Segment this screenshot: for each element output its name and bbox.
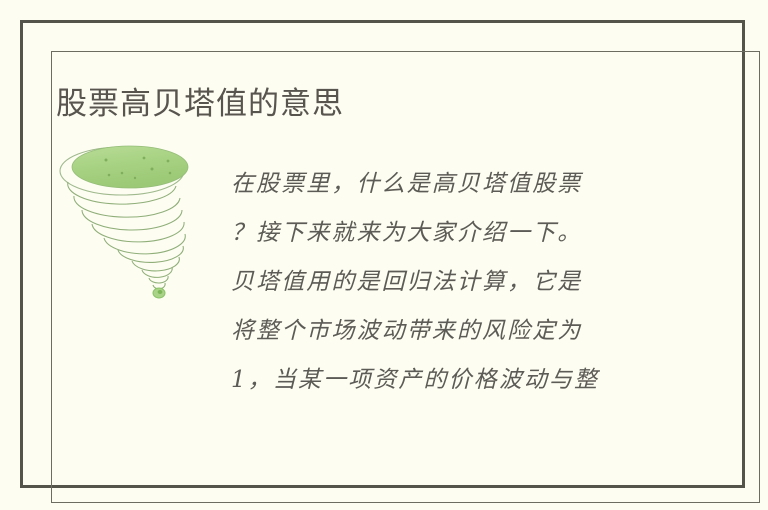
- body-line: ？接下来就来为大家介绍一下。: [231, 209, 671, 258]
- body-line: 1，当某一项资产的价格波动与整: [231, 356, 671, 405]
- tornado-funnel-rings: [68, 182, 186, 289]
- page-title: 股票高贝塔值的意思: [56, 84, 344, 124]
- article-card: 股票高贝塔值的意思: [0, 0, 768, 510]
- body-line: 将整个市场波动带来的风险定为: [231, 307, 671, 356]
- body-line: 在股票里，什么是高贝塔值股票: [231, 160, 671, 209]
- tornado-illustration: [52, 140, 202, 305]
- tornado-tip-dot-core: [158, 290, 163, 294]
- body-line: 贝塔值用的是回归法计算，它是: [231, 258, 671, 307]
- article-body: 在股票里，什么是高贝塔值股票 ？接下来就来为大家介绍一下。 贝塔值用的是回归法计…: [231, 160, 671, 405]
- tornado-cap-fill: [72, 146, 188, 188]
